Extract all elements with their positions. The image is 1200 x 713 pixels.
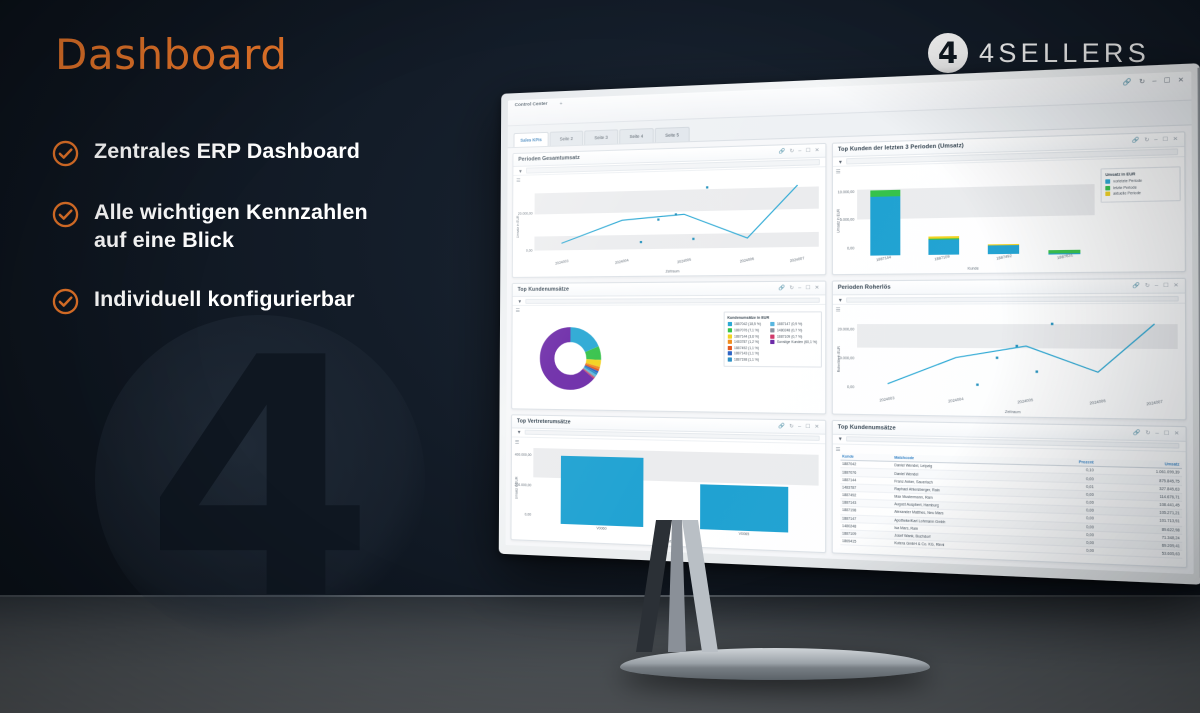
panel-title: Top Vertreterumsätze [517, 418, 571, 425]
link-icon[interactable]: 🔗 [1123, 80, 1132, 87]
list-item: Zentrales ERP Dashboard [52, 138, 482, 167]
legend-swatch [727, 328, 731, 332]
link-icon[interactable]: 🔗 [778, 285, 785, 291]
legend-item: aktuelle Periode [1105, 190, 1175, 196]
kundenumsaetze-table: Kunde Matchcode Prozent Umsatz 1887042Da… [840, 453, 1182, 559]
legend-swatch [770, 328, 774, 332]
brand-watermark: 4 [95, 315, 425, 645]
legend-label: aktuelle Periode [1113, 191, 1141, 196]
x-tick-0: 2024003 [879, 396, 895, 403]
y-axis: 0,00 200.000,00 400.000,00 [512, 444, 534, 523]
window-controls[interactable]: 🔗 ↻ – ☐ ✕ [1123, 77, 1184, 86]
legend-label: 1483787 (1,2 %) [734, 340, 759, 344]
bar-v0060 [560, 455, 643, 527]
x-tick-4: 2024007 [1146, 399, 1163, 406]
maximize-icon[interactable]: ☐ [1164, 430, 1170, 437]
bar-segment-vorletzte [870, 196, 900, 256]
x-tick-0: 1887144 [876, 255, 892, 262]
y-tick-2: 20.000,00 [838, 327, 855, 331]
legend-label: 1887492 (1,1 %) [734, 346, 759, 350]
list-item: Individuell konfigurierbar [52, 286, 482, 315]
x-axis-label: Zeitraum [1005, 409, 1021, 414]
legend-item: 1887076 (7,1 %) [727, 328, 765, 332]
x-axis: 1887144 1887109 1887492 1887631 Kunde [857, 253, 1095, 272]
legend-label: 1887076 (7,1 %) [734, 328, 759, 332]
legend-label: 1887147 (0,9 %) [777, 322, 802, 326]
bullet-label-2: Alle wichtigen Kennzahlen auf eine Blick [94, 199, 368, 254]
legend-swatch [770, 334, 774, 338]
filter-icon[interactable]: ▼ [518, 299, 522, 304]
panel-toolbar[interactable]: 🔗 ↻ – ☐ ✕ [1132, 136, 1178, 144]
y-tick-2: 400.000,00 [515, 453, 532, 457]
bullet-label-1: Zentrales ERP Dashboard [94, 138, 360, 166]
refresh-icon[interactable]: ↻ [1144, 137, 1149, 144]
add-tab-button[interactable]: + [560, 101, 563, 107]
legend-label: 1887144 (3,6 %) [734, 334, 759, 338]
y-tick-1: 200.000,00 [515, 483, 532, 488]
chart-menu-icon[interactable]: ☰ [516, 308, 520, 314]
cell-kunde: 1869415 [840, 537, 892, 547]
bar-group-0 [560, 445, 643, 527]
y-axis: 0,00 10.000,00 20.000,00 [832, 313, 856, 396]
panel-toolbar[interactable]: 🔗 ↻ – ☐ ✕ [778, 423, 819, 430]
legend-item: 1887143 (1,1 %) [727, 351, 765, 355]
legend-title: Umsatz in EUR [1105, 171, 1175, 177]
refresh-icon[interactable]: ↻ [790, 148, 795, 154]
dashboard-grid: Perioden Gesamtumsatz 🔗 ↻ – ☐ ✕ [506, 125, 1194, 574]
minimize-icon[interactable]: – [1154, 137, 1157, 144]
panel-header: Top Kundenumsätze 🔗 ↻ – ☐ ✕ [513, 282, 825, 297]
chart-menu-icon[interactable]: ☰ [515, 439, 519, 445]
filter-icon[interactable]: ▼ [518, 168, 522, 173]
minimize-icon[interactable]: – [1155, 283, 1158, 290]
table-menu-icon[interactable]: ☰ [836, 446, 841, 453]
legend-label: Sonstige Kunden (60,1 %) [777, 340, 817, 344]
x-tick-0: V0060 [596, 526, 606, 530]
panel-header: Perioden Roherlös 🔗 ↻ – ☐ ✕ [832, 279, 1185, 295]
legend-item: letzte Periode [1105, 184, 1175, 190]
logo-wordmark: 4SELLERS [979, 38, 1150, 69]
y-tick-0: 0,00 [847, 246, 854, 250]
legend-swatch [727, 351, 731, 355]
panel-title: Perioden Gesamtumsatz [518, 155, 580, 163]
watermark-four-glyph: 4 [145, 315, 375, 645]
panel-perioden-roherloes: Perioden Roherlös 🔗 ↻ – ☐ ✕ ▼ [831, 278, 1187, 420]
y-axis: 0,00 5.000,00 10.000,00 [832, 174, 856, 257]
y-tick-0: 0,00 [525, 513, 531, 517]
legend-item: Sonstige Kunden (60,1 %) [770, 340, 817, 344]
bar-group-0 [870, 173, 900, 256]
legend-swatch [727, 357, 731, 361]
line-markers [534, 175, 818, 260]
filter-input[interactable] [525, 297, 819, 304]
x-tick-1: 2024004 [947, 396, 963, 403]
x-tick-3: 1887631 [1057, 253, 1074, 260]
chart-legend: Umsatz in EUR vorletzte Periode letzte P… [1100, 166, 1180, 202]
legend-title: Kundenumsätze in EUR [727, 316, 817, 320]
x-axis-label: Zeitraum [666, 270, 680, 274]
panel-body: ☰ Umsatz in EUR 0,00 20.000,00 [513, 167, 825, 277]
y-tick-0: 0,00 [526, 249, 532, 253]
link-icon[interactable]: 🔗 [778, 423, 785, 429]
close-icon[interactable]: ✕ [1178, 77, 1184, 84]
plot-area [856, 312, 1177, 399]
chart-menu-icon[interactable]: ☰ [836, 169, 841, 175]
donut-chart [528, 310, 614, 407]
refresh-icon[interactable]: ↻ [789, 285, 794, 291]
tab-seite-3[interactable]: Seite 3 [584, 129, 618, 144]
x-tick-3: 2024006 [740, 257, 755, 264]
legend-swatch [770, 322, 774, 326]
link-icon[interactable]: 🔗 [1132, 137, 1140, 144]
legend-column-left: 1887042 (18,5 %) 1887076 (7,1 %) 1887144… [727, 322, 766, 363]
x-axis: 2024003 2024004 2024005 2024006 2024007 … [534, 257, 818, 275]
donut-svg [540, 327, 602, 390]
panel-title: Top Kundenumsätze [518, 287, 569, 293]
bar-group-2 [987, 169, 1018, 254]
x-tick-4: 2024007 [790, 256, 805, 263]
x-tick-3: 2024006 [1089, 398, 1106, 405]
refresh-icon[interactable]: ↻ [1145, 429, 1150, 436]
logo-four-icon: 4 [928, 33, 968, 73]
x-tick-1: 1887109 [934, 255, 950, 262]
chart-menu-icon[interactable]: ☰ [836, 307, 841, 313]
bar-segment-vorletzte [987, 245, 1018, 254]
legend-item: 1483787 (1,2 %) [727, 340, 765, 344]
maximize-icon[interactable]: ☐ [1163, 283, 1169, 290]
close-icon[interactable]: ✕ [1173, 136, 1178, 143]
close-icon[interactable]: ✕ [1174, 430, 1179, 437]
legend-label: 1887143 (1,1 %) [734, 352, 759, 356]
list-item: Alle wichtigen Kennzahlen auf eine Blick [52, 199, 482, 254]
close-icon[interactable]: ✕ [815, 423, 820, 429]
x-axis: 2024003 2024004 2024005 2024006 2024007 … [856, 395, 1178, 416]
panel-toolbar[interactable]: 🔗 ↻ – ☐ ✕ [779, 147, 820, 155]
monitor-stand-neck [612, 520, 742, 665]
legend-item: 1887198 (1,1 %) [727, 357, 765, 361]
legend-label: 1480248 (0,7 %) [777, 328, 802, 332]
panel-body: ☰ Umsatz in EUR 0,00 5.000,00 10.000,00 … [832, 157, 1184, 274]
panel-top-kundenumsaetze-table: Top Kundenumsätze 🔗 ↻ – ☐ ✕ ▼ [831, 420, 1187, 569]
chart-legend: Kundenumsätze in EUR 1887042 (18,5 %) 18… [723, 312, 821, 368]
check-circle-icon [52, 201, 79, 228]
monitor-screen: Control Center + 🔗 ↻ – ☐ ✕ Sales KPIs [506, 71, 1194, 574]
legend-swatch [727, 346, 731, 350]
x-tick-0: 2024003 [554, 259, 568, 266]
minimize-icon[interactable]: – [798, 148, 801, 154]
cell-prozent: 0,00 [1040, 545, 1096, 555]
bar-series [857, 167, 1095, 256]
refresh-icon[interactable]: ↻ [789, 423, 794, 429]
legend-swatch [1105, 192, 1110, 197]
link-icon[interactable]: 🔗 [1133, 429, 1141, 436]
bar-group-1 [928, 171, 959, 255]
x-tick-2: 2024005 [677, 258, 692, 265]
plot-area [534, 175, 818, 260]
legend-item: vorletzte Periode [1105, 178, 1175, 184]
line-markers [856, 312, 1177, 399]
panel-toolbar[interactable]: 🔗 ↻ – ☐ ✕ [778, 285, 819, 292]
check-circle-icon [52, 140, 79, 167]
panel-toolbar[interactable]: 🔗 ↻ – ☐ ✕ [1132, 283, 1178, 290]
legend-item: 1887042 (18,5 %) [727, 322, 765, 326]
panel-top-kundenumsaetze-donut: Top Kundenumsätze 🔗 ↻ – ☐ ✕ ▼ [511, 281, 826, 414]
maximize-icon[interactable]: ☐ [806, 285, 811, 291]
bullet-label-3: Individuell konfigurierbar [94, 286, 355, 314]
y-tick-1: 20.000,00 [518, 211, 533, 215]
filter-icon[interactable]: ▼ [838, 297, 843, 302]
legend-item: 1887492 (1,1 %) [727, 346, 765, 350]
panel-body: ☰ Roherlös in EUR 0,00 10.000,00 20.000,… [832, 304, 1185, 419]
legend-label: vorletzte Periode [1113, 178, 1142, 183]
panel-perioden-gesamtumsatz: Perioden Gesamtumsatz 🔗 ↻ – ☐ ✕ [512, 143, 826, 278]
maximize-icon[interactable]: ☐ [1162, 136, 1168, 143]
legend-label: letzte Periode [1113, 185, 1137, 190]
maximize-icon[interactable]: ☐ [1164, 78, 1171, 85]
link-icon[interactable]: 🔗 [1132, 283, 1140, 290]
bar-group-3 [1048, 168, 1080, 254]
promo-stage: 4 Dashboard Zentrales ERP Dashboard Alle… [0, 0, 1200, 713]
filter-icon[interactable]: ▼ [838, 159, 843, 164]
panel-title: Top Kundenumsätze [838, 424, 896, 432]
panel-body: ☰ Kunde Matchcode Prozent [832, 444, 1186, 567]
panel-title: Top Kunden der letzten 3 Perioden (Umsat… [838, 143, 964, 153]
y-tick-1: 5.000,00 [840, 218, 854, 223]
legend-label: 1887042 (18,5 %) [734, 322, 761, 326]
bar-segment-vorletzte [928, 240, 959, 255]
filter-input[interactable] [846, 295, 1179, 302]
panel-body: ☰ [512, 305, 825, 413]
check-circle-icon [52, 288, 79, 315]
minimize-icon[interactable]: – [1155, 430, 1158, 437]
tab-seite-5[interactable]: Seite 5 [655, 127, 690, 143]
x-tick-1: 2024004 [615, 259, 629, 266]
legend-item: 1480248 (0,7 %) [770, 328, 817, 332]
legend-swatch [1105, 185, 1110, 190]
legend-label: 1887198 (1,1 %) [734, 357, 759, 361]
chart-menu-icon[interactable]: ☰ [516, 178, 520, 184]
refresh-icon[interactable]: ↻ [1139, 79, 1145, 86]
monitor-bezel: Control Center + 🔗 ↻ – ☐ ✕ Sales KPIs [499, 63, 1200, 585]
monitor: Control Center + 🔗 ↻ – ☐ ✕ Sales KPIs [500, 93, 1140, 553]
minimize-icon[interactable]: – [798, 423, 801, 429]
legend-swatch [727, 340, 731, 344]
panel-toolbar[interactable]: 🔗 ↻ – ☐ ✕ [1133, 429, 1179, 437]
plot-area [857, 167, 1095, 256]
tab-sales-kpis[interactable]: Sales KPIs [514, 132, 549, 147]
y-axis: 0,00 20.000,00 [513, 182, 535, 260]
legend-item: 1887109 (0,7 %) [770, 334, 817, 338]
x-axis-label: Kunde [968, 267, 979, 271]
close-icon[interactable]: ✕ [815, 285, 820, 291]
maximize-icon[interactable]: ☐ [805, 423, 810, 429]
table-body: 1887042Daniel Wendel, Leipzig0,101.061.0… [840, 460, 1182, 558]
minimize-icon[interactable]: – [1152, 78, 1156, 85]
x-tick-2: 1887492 [996, 254, 1012, 261]
minimize-icon[interactable]: – [798, 285, 801, 291]
refresh-icon[interactable]: ↻ [1145, 283, 1150, 290]
y-tick-0: 0,00 [847, 385, 854, 389]
legend-item: 1887144 (3,6 %) [727, 334, 765, 338]
y-tick-2: 10.000,00 [838, 190, 855, 195]
legend-label: 1887109 (0,7 %) [777, 334, 802, 338]
legend-swatch [1105, 179, 1110, 184]
link-icon[interactable]: 🔗 [779, 148, 786, 154]
filter-icon[interactable]: ▼ [838, 436, 843, 441]
legend-swatch [770, 340, 774, 344]
panel-top-kunden-3-perioden: Top Kunden der letzten 3 Perioden (Umsat… [831, 131, 1186, 275]
legend-swatch [727, 322, 731, 326]
tab-seite-2[interactable]: Seite 2 [550, 131, 584, 146]
x-tick-2: 2024005 [1017, 397, 1034, 404]
legend-item: 1887147 (0,9 %) [770, 322, 817, 326]
legend-column-right: 1887147 (0,9 %) 1480248 (0,7 %) 1887109 … [770, 322, 817, 364]
maximize-icon[interactable]: ☐ [806, 148, 811, 154]
tab-seite-4[interactable]: Seite 4 [619, 128, 654, 143]
window-title: Control Center [515, 102, 548, 108]
panel-title: Perioden Roherlös [838, 285, 891, 292]
filter-icon[interactable]: ▼ [517, 430, 521, 435]
page-title: Dashboard [55, 30, 287, 79]
table-scroll[interactable]: Kunde Matchcode Prozent Umsatz 1887042Da… [840, 453, 1183, 565]
erp-dashboard-app: Control Center + 🔗 ↻ – ☐ ✕ Sales KPIs [506, 71, 1194, 574]
legend-swatch [727, 334, 731, 338]
close-icon[interactable]: ✕ [1174, 283, 1179, 290]
y-tick-1: 10.000,00 [838, 356, 855, 360]
feature-bullet-list: Zentrales ERP Dashboard Alle wichtigen K… [52, 138, 482, 347]
close-icon[interactable]: ✕ [815, 147, 820, 153]
